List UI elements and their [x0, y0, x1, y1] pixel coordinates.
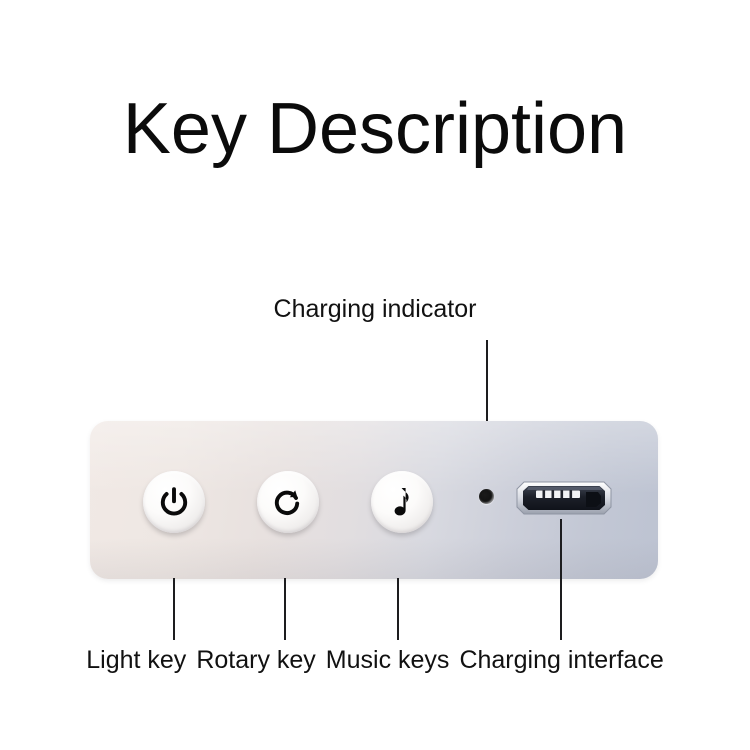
music-note-icon	[386, 485, 418, 519]
panel-shading	[90, 538, 658, 579]
leader-line-music-keys	[397, 578, 399, 640]
leader-line-light-key	[173, 578, 175, 640]
rotate-icon	[271, 485, 305, 519]
power-icon	[157, 485, 191, 519]
led-indicator	[479, 489, 494, 504]
micro-usb-port	[514, 480, 614, 516]
label-light-key: Light key	[81, 645, 191, 675]
diagram-canvas: Key Description Charging indicator	[0, 0, 750, 750]
callout-label-charging-indicator: Charging indicator	[274, 294, 477, 324]
label-rotary-key: Rotary key	[191, 645, 320, 675]
music-button[interactable]	[371, 471, 433, 533]
power-button[interactable]	[143, 471, 205, 533]
page-title: Key Description	[0, 86, 750, 172]
bottom-label-row: Light key Rotary key Music keys Charging…	[0, 645, 750, 675]
label-music-keys: Music keys	[321, 645, 455, 675]
leader-line-rotary-key	[284, 578, 286, 640]
label-charging-interface: Charging interface	[454, 645, 668, 675]
rotary-button[interactable]	[257, 471, 319, 533]
leader-line-charging-interface	[560, 519, 562, 640]
